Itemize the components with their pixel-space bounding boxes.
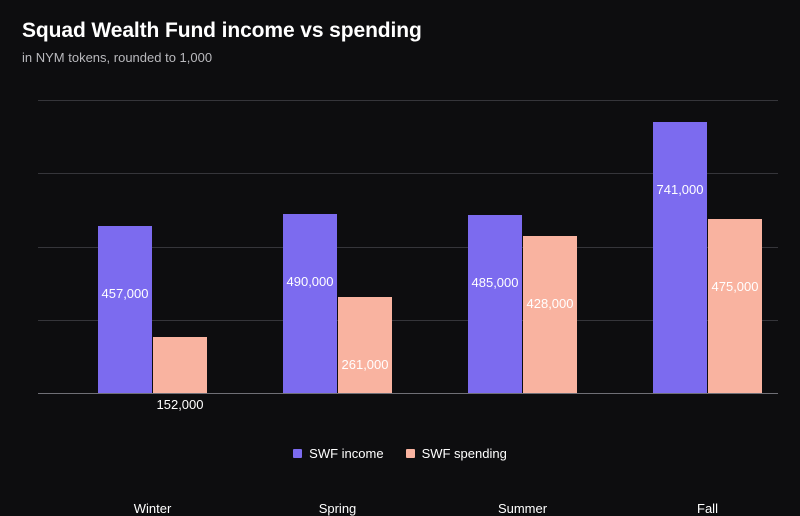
legend-swatch-icon [293, 449, 302, 458]
bar-value-label: 485,000 [468, 275, 522, 290]
chart-subtitle: in NYM tokens, rounded to 1,000 [22, 49, 780, 67]
bar-summer-spending[interactable]: 428,000 [523, 236, 577, 393]
bar-value-label: 741,000 [653, 182, 707, 197]
bar-group: 741,000475,000 [653, 100, 762, 393]
bar-groups: 457,000152,000490,000261,000485,000428,0… [38, 100, 778, 393]
bar-spring-spending[interactable]: 261,000 [338, 297, 392, 393]
x-axis-tick-label: Spring [258, 501, 418, 516]
bar-value-label: 475,000 [708, 279, 762, 294]
bar-value-label: 490,000 [283, 274, 337, 289]
legend-swatch-icon [406, 449, 415, 458]
chart-container: Squad Wealth Fund income vs spending in … [0, 0, 800, 489]
chart-title: Squad Wealth Fund income vs spending [22, 18, 780, 44]
bar-group: 490,000261,000 [283, 100, 392, 393]
legend-label: SWF spending [422, 446, 507, 461]
bar-value-label: 261,000 [338, 357, 392, 372]
chart-legend: SWF incomeSWF spending [0, 446, 800, 461]
bar-value-label: 152,000 [153, 397, 207, 412]
x-axis-tick-label: Fall [628, 501, 788, 516]
bar-winter-spending[interactable]: 152,000 [153, 337, 207, 393]
bar-value-label: 457,000 [98, 286, 152, 301]
bar-fall-spending[interactable]: 475,000 [708, 219, 762, 393]
bar-value-label: 428,000 [523, 296, 577, 311]
x-axis-tick-label: Summer [443, 501, 603, 516]
legend-label: SWF income [309, 446, 383, 461]
bar-summer-income[interactable]: 485,000 [468, 215, 522, 393]
legend-item[interactable]: SWF income [293, 446, 383, 461]
bar-group: 457,000152,000 [98, 100, 207, 393]
bar-fall-income[interactable]: 741,000 [653, 122, 707, 393]
bar-group: 485,000428,000 [468, 100, 577, 393]
axis-baseline [38, 393, 778, 394]
chart-header: Squad Wealth Fund income vs spending in … [22, 18, 780, 67]
x-axis-tick-label: Winter [73, 501, 233, 516]
bar-winter-income[interactable]: 457,000 [98, 226, 152, 393]
legend-item[interactable]: SWF spending [406, 446, 507, 461]
plot-area: 0200400600800 457,000152,000490,000261,0… [38, 100, 778, 393]
bar-spring-income[interactable]: 490,000 [283, 214, 337, 393]
